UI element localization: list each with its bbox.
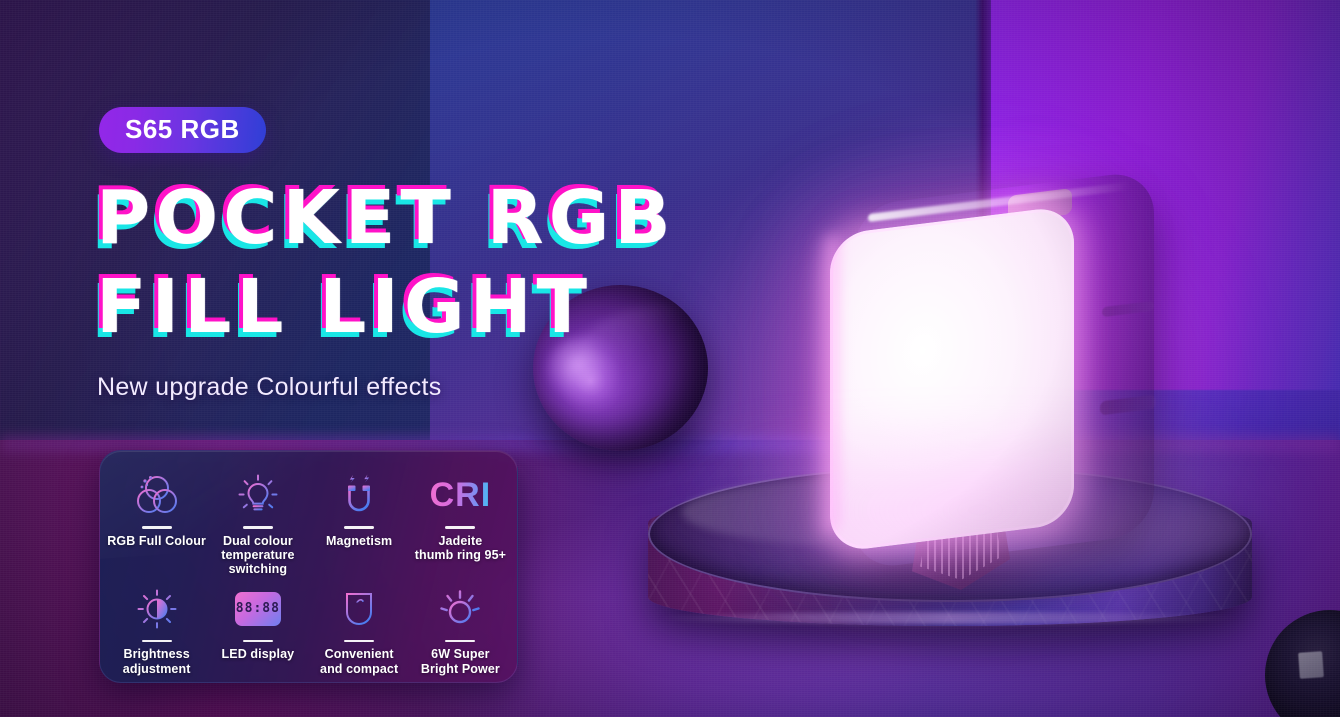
divider-dash: [344, 640, 374, 643]
divider-dash: [445, 526, 475, 529]
subheadline: New upgrade Colourful effects: [97, 373, 442, 402]
feature-bright-power: 6W Super Bright Power: [410, 577, 511, 676]
feature-label-line1: Convenient: [325, 647, 394, 661]
feature-panel: RGB Full Colour: [99, 450, 518, 683]
headline-line-1: POCKET RGB: [96, 182, 676, 255]
feature-label-line2: thumb ring 95+: [415, 548, 506, 562]
feature-label-line2: and compact: [320, 662, 398, 676]
pocket-icon: [337, 583, 381, 635]
feature-label: RGB Full Colour: [107, 534, 206, 548]
feature-rgb-full-colour: RGB Full Colour: [106, 463, 207, 577]
feature-label: 6W Super Bright Power: [421, 647, 500, 676]
feature-label-line1: Jadeite: [438, 534, 482, 548]
feature-label: Magnetism: [326, 534, 392, 548]
feature-label-line1: Dual colour: [223, 534, 293, 548]
feature-label: Jadeite thumb ring 95+: [415, 534, 506, 563]
product-banner: S65 RGB POCKET RGB FILL LIGHT New upgrad…: [0, 0, 1340, 717]
feature-label: Dual colour temperature switching: [207, 534, 308, 577]
divider-dash: [243, 526, 273, 529]
cri-text: CRI: [430, 478, 492, 512]
cri-text-icon: CRI: [430, 469, 492, 521]
feature-label-line2: temperature switching: [221, 548, 294, 576]
led-digits: 88:88: [236, 601, 280, 616]
feature-magnetism: Magnetism: [309, 463, 410, 577]
divider-dash: [344, 526, 374, 529]
divider-dash: [445, 640, 475, 643]
dark-sphere-reflection: [1298, 651, 1324, 679]
feature-label: Convenient and compact: [320, 647, 398, 676]
divider-dash: [243, 640, 273, 643]
feature-label-line1: Brightness: [123, 647, 189, 661]
headline-line-2: FILL LIGHT: [96, 271, 676, 344]
led-screen: 88:88: [235, 592, 281, 626]
rgb-circles-icon: [132, 469, 182, 521]
divider-dash: [142, 526, 172, 529]
feature-label: LED display: [222, 647, 295, 661]
feature-label-line1: 6W Super: [431, 647, 489, 661]
feature-dual-colour-temperature: Dual colour temperature switching: [207, 463, 308, 577]
sun-bright-icon: [436, 583, 484, 635]
feature-label: Brightness adjustment: [123, 647, 191, 676]
floor-glow: [660, 430, 1300, 630]
magnet-icon: [336, 469, 382, 521]
feature-cri-jadeite: CRI Jadeite thumb ring 95+: [410, 463, 511, 577]
feature-label-line2: Bright Power: [421, 662, 500, 676]
feature-led-display: 88:88 LED display: [207, 577, 308, 676]
headline: POCKET RGB FILL LIGHT: [96, 182, 676, 343]
feature-label-line2: adjustment: [123, 662, 191, 676]
feature-convenient-compact: Convenient and compact: [309, 577, 410, 676]
brightness-half-sun-icon: [133, 583, 181, 635]
feature-grid: RGB Full Colour: [100, 451, 517, 682]
light-bulb-icon: [234, 469, 282, 521]
product-model-badge: S65 RGB: [99, 107, 266, 153]
led-display-icon: 88:88: [235, 583, 281, 635]
feature-brightness-adjustment: Brightness adjustment: [106, 577, 207, 676]
divider-dash: [142, 640, 172, 643]
